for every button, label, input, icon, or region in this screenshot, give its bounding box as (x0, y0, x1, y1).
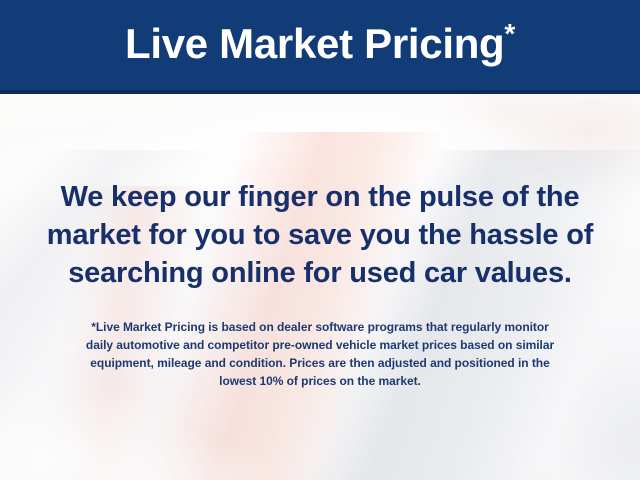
page-title-asterisk: * (504, 18, 515, 49)
headline: We keep our finger on the pulse of the m… (20, 178, 620, 292)
disclaimer-line: *Live Market Pricing is based on dealer … (30, 318, 610, 336)
disclaimer-text: *Live Market Pricing is based on dealer … (30, 318, 610, 390)
disclaimer-line: lowest 10% of prices on the market. (30, 372, 610, 390)
live-market-pricing-card: Live Market Pricing* We keep our finger … (0, 0, 640, 480)
headline-line: searching online for used car values. (20, 254, 620, 292)
page-title-text: Live Market Pricing (125, 20, 504, 67)
page-title: Live Market Pricing* (125, 23, 515, 67)
header-banner: Live Market Pricing* (0, 0, 640, 90)
banner-bottom-strip (0, 90, 640, 94)
disclaimer-line: daily automotive and competitor pre-owne… (30, 336, 610, 354)
disclaimer-line: equipment, mileage and condition. Prices… (30, 354, 610, 372)
headline-line: We keep our finger on the pulse of the (20, 178, 620, 216)
headline-line: market for you to save you the hassle of (20, 216, 620, 254)
content-area: We keep our finger on the pulse of the m… (0, 94, 640, 480)
